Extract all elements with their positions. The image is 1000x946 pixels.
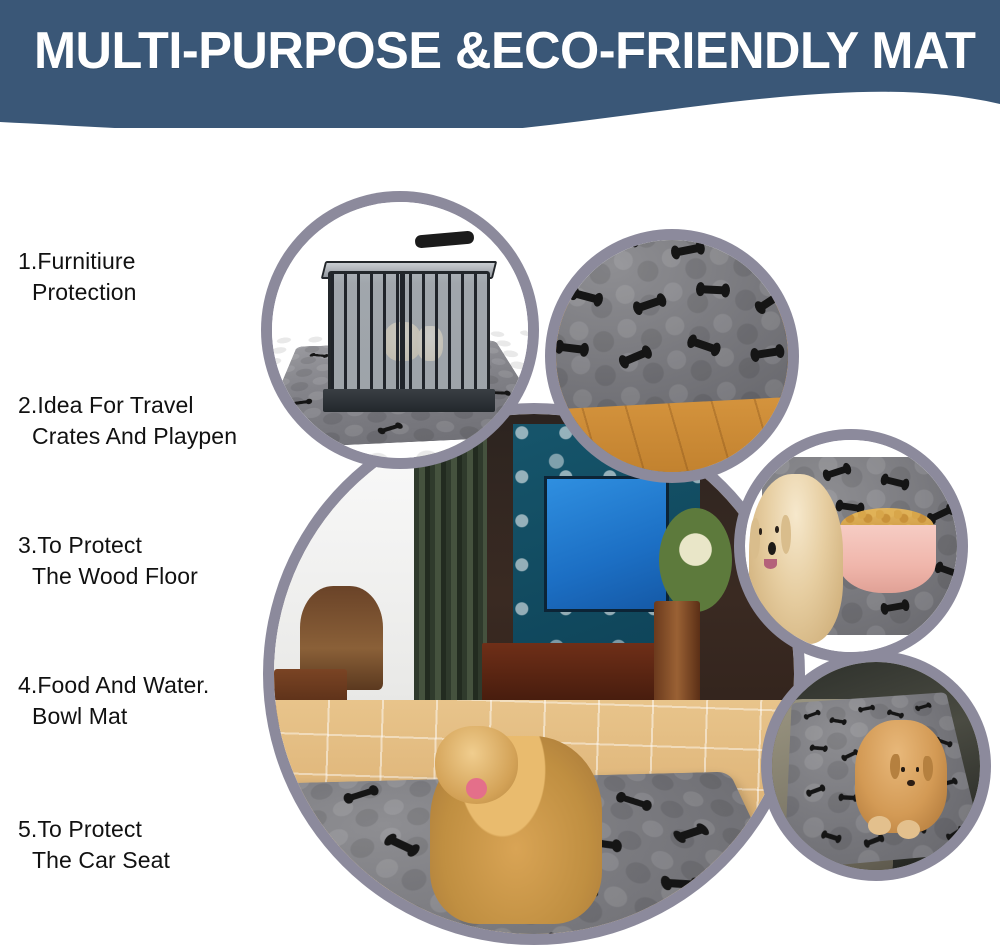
puppy-nose <box>907 780 914 787</box>
puppy-eye-right <box>916 767 920 771</box>
room-golden-retriever-tongue <box>466 778 487 799</box>
dog-mouth <box>764 559 777 569</box>
feature-4-line2: Bowl Mat <box>18 701 209 732</box>
feature-3-line2: The Wood Floor <box>18 561 198 592</box>
dog-nose <box>768 542 776 556</box>
feature-3-number: 3. <box>18 532 37 558</box>
feature-1-number: 1. <box>18 248 37 274</box>
puppy-paw-left <box>868 816 891 835</box>
crate-carry-handle <box>415 230 475 248</box>
puppy-ear-right <box>923 756 933 781</box>
feature-4-number: 4. <box>18 672 37 698</box>
car-bordeaux-puppy <box>855 720 947 832</box>
photo-circle-travel-crate <box>272 202 528 458</box>
puppy-paw-right <box>897 820 920 839</box>
feature-item-4: 4.Food And Water. Bowl Mat <box>18 670 209 732</box>
feature-2-number: 2. <box>18 392 37 418</box>
room-flower-vase <box>659 508 732 612</box>
crate-cage <box>328 271 489 394</box>
feature-2-line2: Crates And Playpen <box>18 421 237 452</box>
page-title: MULTI-PURPOSE &ECO-FRIENDLY MAT <box>34 20 946 82</box>
feature-2-line1: Idea For Travel <box>37 392 193 418</box>
feature-item-5: 5.To Protect The Car Seat <box>18 814 170 876</box>
crate-bars <box>331 274 486 391</box>
dog-ear-left <box>750 518 760 559</box>
photo-circle-wood-floor <box>556 240 788 472</box>
puppy-eye-left <box>901 767 905 771</box>
pink-food-bowl <box>838 525 936 593</box>
feature-5-line2: The Car Seat <box>18 845 170 876</box>
living-room-scene <box>274 414 794 934</box>
photo-circle-living-room <box>274 414 794 934</box>
crate-base-tray <box>323 389 495 412</box>
feature-5-number: 5. <box>18 816 37 842</box>
feature-item-1: 1.Furnitiure Protection <box>18 246 137 308</box>
wood-floor-scene <box>556 240 788 472</box>
wood-pet-mat <box>556 240 788 410</box>
dog-eye-left <box>759 528 763 535</box>
feature-item-3: 3.To Protect The Wood Floor <box>18 530 198 592</box>
feature-5-line1: To Protect <box>37 816 142 842</box>
room-television <box>544 476 669 611</box>
feature-4-line1: Food And Water. <box>37 672 209 698</box>
mat-bone-pattern <box>556 240 788 410</box>
puppy-ear-left <box>890 754 900 779</box>
photo-circle-car-seat <box>772 662 980 870</box>
header-banner: MULTI-PURPOSE &ECO-FRIENDLY MAT <box>0 0 1000 128</box>
car-seat-scene <box>772 662 980 870</box>
crate-scene <box>272 202 528 458</box>
crate-door-divider <box>400 274 405 391</box>
dog-ear-right <box>781 515 791 554</box>
feature-1-line1: Furnitiure <box>37 248 135 274</box>
feature-1-line2: Protection <box>18 277 137 308</box>
dog-eye-right <box>775 526 779 533</box>
feature-item-2: 2.Idea For Travel Crates And Playpen <box>18 390 237 452</box>
feature-3-line1: To Protect <box>37 532 142 558</box>
bowl-golden-retriever <box>749 474 842 644</box>
photo-circle-food-bowl <box>745 440 957 652</box>
food-bowl-scene <box>745 440 957 652</box>
